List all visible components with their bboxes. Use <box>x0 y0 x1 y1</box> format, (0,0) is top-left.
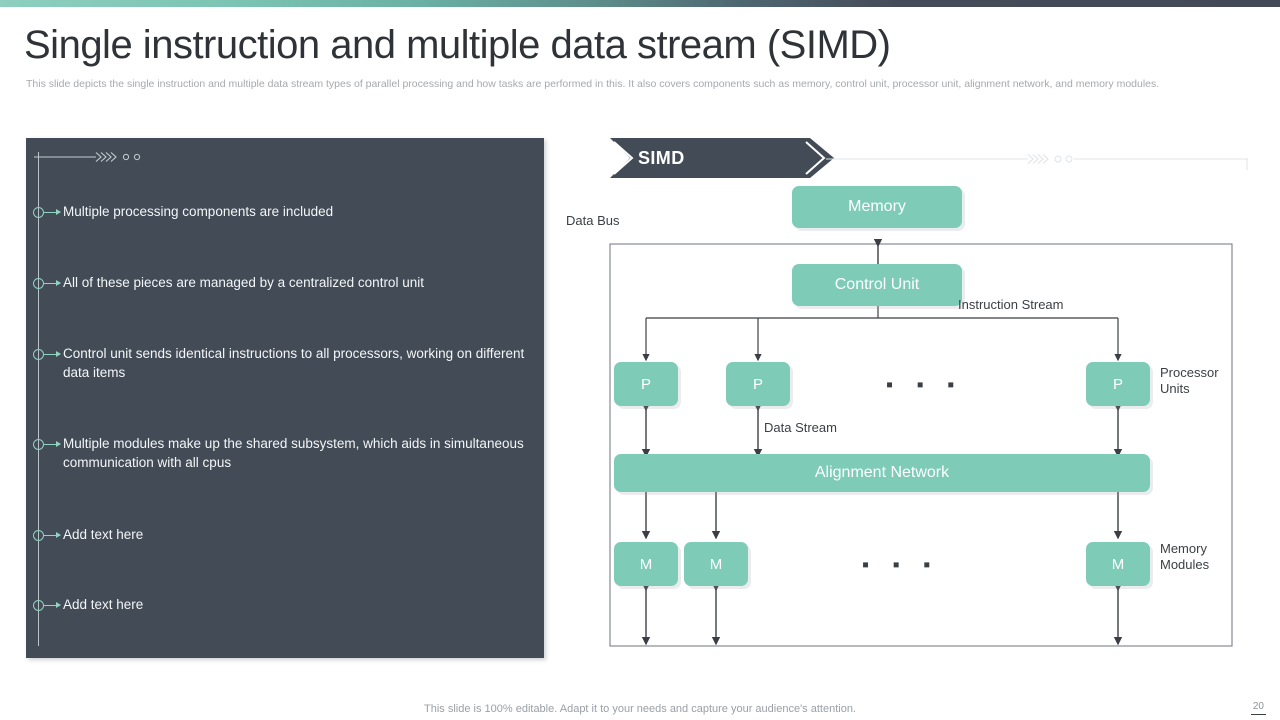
node-processor-2[interactable]: P <box>726 362 790 406</box>
bullet-arrow-icon <box>44 283 60 284</box>
label-data-stream: Data Stream <box>764 420 837 436</box>
bullet-circle-icon <box>33 207 44 218</box>
bullet-circle-icon <box>33 349 44 360</box>
bullet-arrow-icon <box>44 444 60 445</box>
bullet-rail <box>38 152 39 646</box>
node-processor-label: P <box>1113 376 1123 393</box>
list-item-label: Control unit sends identical instruction… <box>63 344 533 382</box>
list-item-label: All of these pieces are managed by a cen… <box>63 273 533 292</box>
node-processor-label: P <box>753 376 763 393</box>
node-memory-module-label: M <box>1112 556 1125 573</box>
node-memory-module-1[interactable]: M <box>614 542 678 586</box>
list-item-label: Multiple modules make up the shared subs… <box>63 434 533 472</box>
node-memory-module-label: M <box>640 556 653 573</box>
bullet-arrow-icon <box>44 605 60 606</box>
node-processor-1[interactable]: P <box>614 362 678 406</box>
node-alignment-network-label: Alignment Network <box>815 464 949 482</box>
node-memory-module-2[interactable]: M <box>684 542 748 586</box>
bullet-arrow-icon <box>44 354 60 355</box>
processor-ellipsis: ▪ ▪ ▪ <box>886 380 963 390</box>
label-processor-units-text: Processor Units <box>1160 365 1219 396</box>
node-control-unit[interactable]: Control Unit <box>792 264 962 306</box>
node-memory-module-n[interactable]: M <box>1086 542 1150 586</box>
top-accent-bar <box>0 0 1280 7</box>
label-instruction-stream: Instruction Stream <box>958 297 1064 313</box>
list-item-label: Add text here <box>63 525 533 544</box>
node-memory-module-label: M <box>710 556 723 573</box>
node-memory-label: Memory <box>848 198 906 216</box>
bullet-arrow-icon <box>44 535 60 536</box>
label-data-bus: Data Bus <box>566 213 619 229</box>
page-number: 20 <box>1251 701 1266 715</box>
bullet-circle-icon <box>33 600 44 611</box>
label-memory-modules-text: Memory Modules <box>1160 541 1209 572</box>
list-item-label: Add text here <box>63 595 533 614</box>
bullet-circle-icon <box>33 530 44 541</box>
page-subtitle: This slide depicts the single instructio… <box>26 78 1231 92</box>
bullet-circle-icon <box>33 439 44 450</box>
bullet-circle-icon <box>33 278 44 289</box>
bullet-list: Multiple processing components are inclu… <box>26 138 544 658</box>
list-item-label: Multiple processing components are inclu… <box>63 202 533 221</box>
page-title: Single instruction and multiple data str… <box>24 20 1174 70</box>
bullet-arrow-icon <box>44 212 60 213</box>
node-processor-label: P <box>641 376 651 393</box>
memory-module-ellipsis: ▪ ▪ ▪ <box>862 560 939 570</box>
node-memory[interactable]: Memory <box>792 186 962 228</box>
simd-diagram: SIMD <box>556 138 1256 658</box>
label-processor-units: Processor Units <box>1160 365 1240 397</box>
bullet-points-panel: Multiple processing components are inclu… <box>26 138 544 658</box>
footer-note: This slide is 100% editable. Adapt it to… <box>0 703 1280 715</box>
node-alignment-network[interactable]: Alignment Network <box>614 454 1150 492</box>
node-processor-n[interactable]: P <box>1086 362 1150 406</box>
label-memory-modules: Memory Modules <box>1160 541 1240 573</box>
node-control-unit-label: Control Unit <box>835 276 919 294</box>
